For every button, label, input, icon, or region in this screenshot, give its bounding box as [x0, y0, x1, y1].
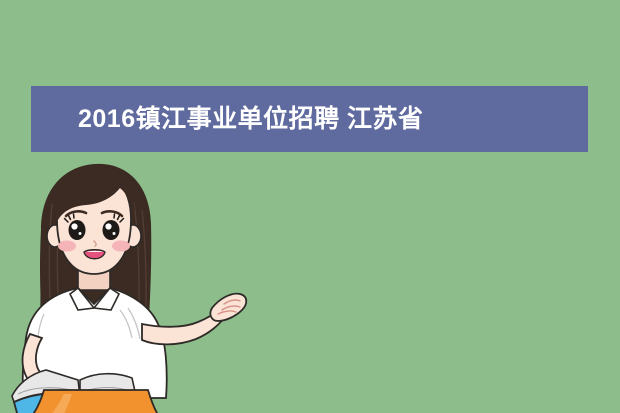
blush-left-icon: [58, 241, 76, 252]
cartoon-girl-illustration: [0, 158, 300, 413]
skirt-icon: [26, 390, 164, 413]
blush-right-icon: [112, 241, 130, 252]
title-banner: 2016镇江事业单位招聘 江苏省: [31, 86, 588, 152]
page-title: 2016镇江事业单位招聘 江苏省: [78, 107, 424, 132]
screenshot-canvas: 2016镇江事业单位招聘 江苏省: [0, 0, 620, 413]
